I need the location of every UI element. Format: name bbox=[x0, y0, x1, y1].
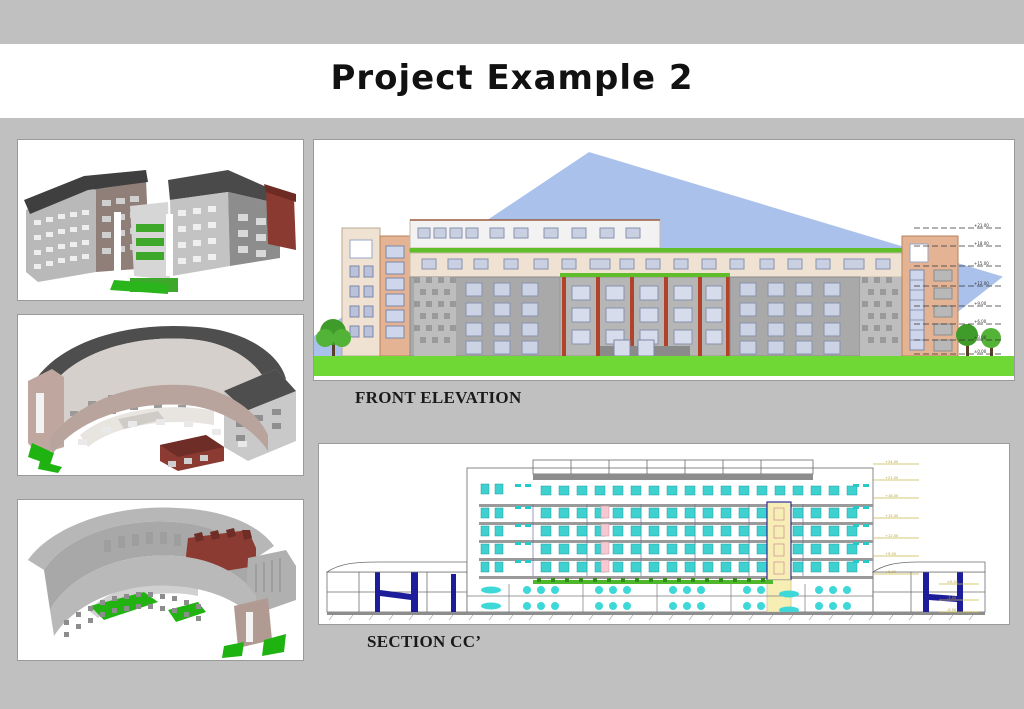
svg-text:-3.00: -3.00 bbox=[947, 596, 957, 600]
slide-canvas: Project Example 2 bbox=[0, 0, 1024, 709]
svg-text:+6.00: +6.00 bbox=[974, 319, 987, 324]
page-title: Project Example 2 bbox=[0, 58, 1024, 98]
section-cc-drawing-image: +24.00+21.00 +18.00+15.00 +12.00+9.00 +6… bbox=[319, 444, 1009, 624]
3d-view-street-level-image bbox=[18, 140, 303, 300]
svg-text:+9.00: +9.00 bbox=[974, 301, 987, 306]
svg-text:±0.00: ±0.00 bbox=[974, 349, 987, 354]
front-elevation-drawing-panel[interactable]: +21.00+18.00 +15.00+12.00 +9.00+6.00 +3.… bbox=[313, 139, 1015, 381]
front-elevation-caption: FRONT ELEVATION bbox=[355, 388, 522, 408]
svg-text:+12.00: +12.00 bbox=[885, 534, 899, 538]
svg-text:+9.00: +9.00 bbox=[885, 552, 897, 556]
svg-text:+18.00: +18.00 bbox=[885, 494, 899, 498]
title-band: Project Example 2 bbox=[0, 44, 1024, 118]
svg-text:+18.00: +18.00 bbox=[974, 241, 989, 246]
svg-text:+15.00: +15.00 bbox=[885, 514, 899, 518]
svg-text:+24.00: +24.00 bbox=[885, 460, 899, 464]
section-cc-caption: SECTION CC’ bbox=[367, 632, 481, 652]
svg-text:+21.00: +21.00 bbox=[974, 223, 989, 228]
3d-view-roof-image bbox=[18, 500, 303, 660]
3d-view-aerial-image bbox=[18, 315, 303, 475]
svg-text:+21.00: +21.00 bbox=[885, 476, 899, 480]
front-elevation-drawing-image: +21.00+18.00 +15.00+12.00 +9.00+6.00 +3.… bbox=[314, 140, 1014, 380]
3d-view-street-level-panel[interactable] bbox=[17, 139, 304, 301]
svg-text:±0.00: ±0.00 bbox=[947, 580, 959, 584]
section-cc-drawing-panel[interactable]: +24.00+21.00 +18.00+15.00 +12.00+9.00 +6… bbox=[318, 443, 1010, 625]
3d-view-aerial-panel[interactable] bbox=[17, 314, 304, 476]
svg-text:+6.00: +6.00 bbox=[885, 570, 897, 574]
3d-view-roof-panel[interactable] bbox=[17, 499, 304, 661]
svg-text:-6.00: -6.00 bbox=[947, 608, 957, 612]
svg-text:+12.00: +12.00 bbox=[974, 281, 989, 286]
svg-text:+15.00: +15.00 bbox=[974, 261, 989, 266]
svg-text:+3.00: +3.00 bbox=[974, 335, 987, 340]
